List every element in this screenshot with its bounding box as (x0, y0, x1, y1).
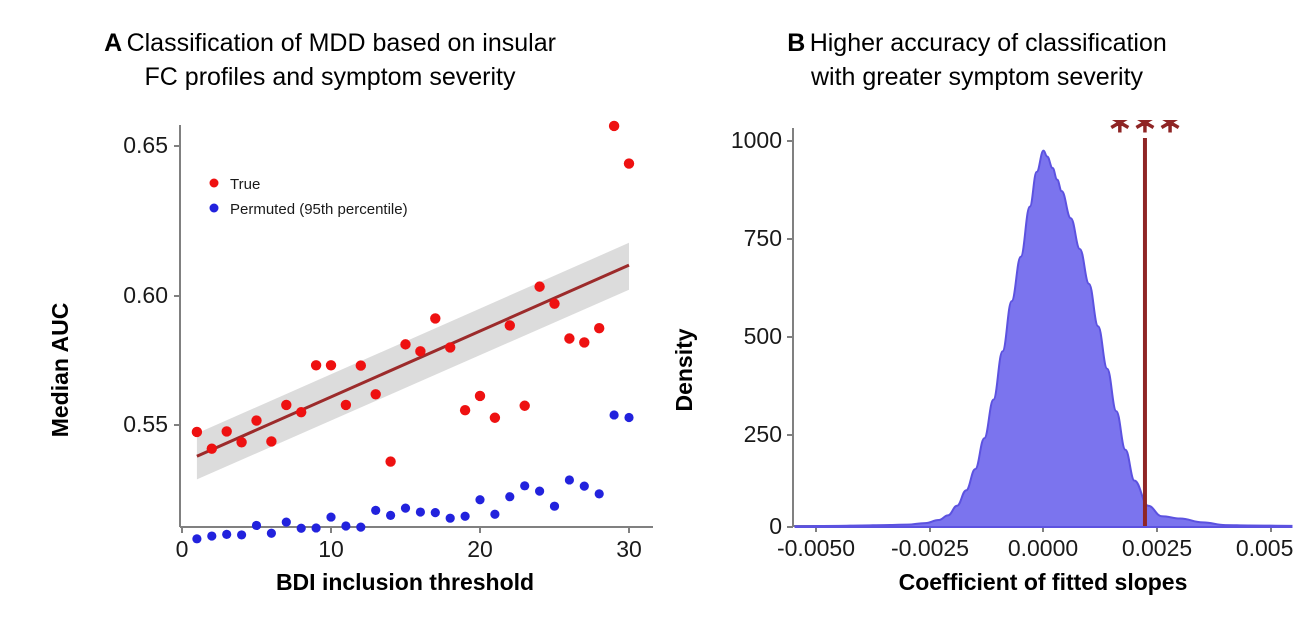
data-point (624, 413, 633, 422)
data-point (624, 158, 634, 168)
panel-b-x-tick-1: -0.0025 (891, 535, 969, 561)
panel-a-x-axis-title: BDI inclusion threshold (276, 569, 534, 595)
data-point (520, 481, 529, 490)
data-point (371, 389, 381, 399)
data-point (520, 401, 530, 411)
panel-b: B Higher accuracy of classification with… (660, 0, 1294, 622)
panel-a-x-tick-1: 10 (318, 536, 344, 562)
data-point (326, 512, 335, 521)
data-point (475, 391, 485, 401)
data-point (192, 534, 201, 543)
data-point (490, 510, 499, 519)
data-point (490, 413, 500, 423)
legend-label-permuted: Permuted (95th percentile) (230, 201, 408, 218)
data-point (549, 298, 559, 308)
data-point (534, 281, 544, 291)
panel-b-y-tick-1: 250 (744, 421, 782, 447)
panel-a-x-tick-3: 30 (616, 536, 642, 562)
data-point (326, 360, 336, 370)
panel-b-svg: Density 1000 750 500 250 0 (660, 120, 1294, 620)
panel-b-density-curve (796, 151, 1292, 527)
legend-swatch-true (210, 179, 219, 188)
data-point (431, 508, 440, 517)
data-point (505, 492, 514, 501)
data-point (505, 320, 515, 330)
data-point (565, 475, 574, 484)
panel-b-y-tick-4: 1000 (731, 127, 782, 153)
data-point (461, 512, 470, 521)
data-point (356, 523, 365, 532)
data-point (192, 427, 202, 437)
panel-b-y-tick-3: 750 (744, 225, 782, 251)
data-point (415, 346, 425, 356)
data-point (222, 530, 231, 539)
data-point (281, 400, 291, 410)
data-point (207, 444, 217, 454)
panel-a-y-tick-0: 0.65 (123, 132, 168, 158)
data-point (371, 506, 380, 515)
data-point (535, 487, 544, 496)
panel-a-header: A Classification of MDD based on insular… (0, 26, 660, 94)
legend-label-true: True (230, 176, 260, 193)
data-point (282, 517, 291, 526)
data-point (445, 342, 455, 352)
data-point (430, 313, 440, 323)
data-point (550, 502, 559, 511)
data-point (609, 121, 619, 131)
data-point (341, 521, 350, 530)
data-point (296, 407, 306, 417)
panel-b-x-tick-4: 0.0050 (1236, 535, 1294, 561)
data-point (400, 339, 410, 349)
panel-a-plot: Median AUC 0.65 0.60 0.55 0 1 (0, 120, 660, 620)
data-point (207, 531, 216, 540)
panel-b-title-line-2: with greater symptom severity (811, 63, 1143, 91)
data-point (385, 456, 395, 466)
data-point (401, 504, 410, 513)
data-point (446, 514, 455, 523)
panel-a-legend: True Permuted (95th percentile) (210, 176, 408, 218)
panel-a-y-tick-2: 0.55 (123, 411, 168, 437)
panel-a: A Classification of MDD based on insular… (0, 0, 660, 622)
panel-a-fit-line (197, 265, 629, 456)
data-point (267, 529, 276, 538)
data-point (341, 400, 351, 410)
panel-b-x-tick-3: 0.0025 (1122, 535, 1192, 561)
data-point (297, 524, 306, 533)
data-point (356, 360, 366, 370)
data-point (222, 426, 232, 436)
panel-a-y-axis-title: Median AUC (47, 303, 73, 438)
data-point (460, 405, 470, 415)
data-point (237, 530, 246, 539)
data-point (236, 437, 246, 447)
data-point (251, 415, 261, 425)
panel-a-letter: A (104, 29, 122, 57)
data-point (312, 523, 321, 532)
data-point (386, 511, 395, 520)
panel-b-x-tick-0: -0.0050 (777, 535, 855, 561)
figure-container: A Classification of MDD based on insular… (0, 0, 1294, 622)
panel-b-x-axis-title: Coefficient of fitted slopes (899, 569, 1188, 595)
panel-a-x-tick-0: 0 (176, 536, 189, 562)
data-point (595, 489, 604, 498)
panel-a-svg: Median AUC 0.65 0.60 0.55 0 1 (0, 120, 660, 620)
panel-b-y-tick-2: 500 (744, 323, 782, 349)
panel-b-header: B Higher accuracy of classification with… (660, 26, 1294, 94)
data-point (266, 436, 276, 446)
panel-b-y-axis-title: Density (671, 328, 697, 411)
panel-a-title-line-1: Classification of MDD based on insular (127, 29, 556, 57)
panel-b-letter: B (787, 29, 805, 57)
data-point (580, 482, 589, 491)
panel-b-title-line-1: Higher accuracy of classification (810, 29, 1167, 57)
legend-swatch-permuted (210, 204, 219, 213)
data-point (252, 521, 261, 530)
panel-a-title-line-2: FC profiles and symptom severity (145, 63, 516, 91)
panel-a-y-tick-1: 0.60 (123, 282, 168, 308)
data-point (475, 495, 484, 504)
panel-b-plot: Density 1000 750 500 250 0 (660, 120, 1294, 620)
data-point (594, 323, 604, 333)
data-point (579, 337, 589, 347)
panel-b-x-tick-2: 0.0000 (1008, 535, 1078, 561)
data-point (564, 333, 574, 343)
panel-b-significance-stars: ∗∗∗ (1107, 120, 1182, 139)
panel-a-x-tick-2: 20 (467, 536, 493, 562)
data-point (311, 360, 321, 370)
data-point (416, 507, 425, 516)
data-point (610, 410, 619, 419)
